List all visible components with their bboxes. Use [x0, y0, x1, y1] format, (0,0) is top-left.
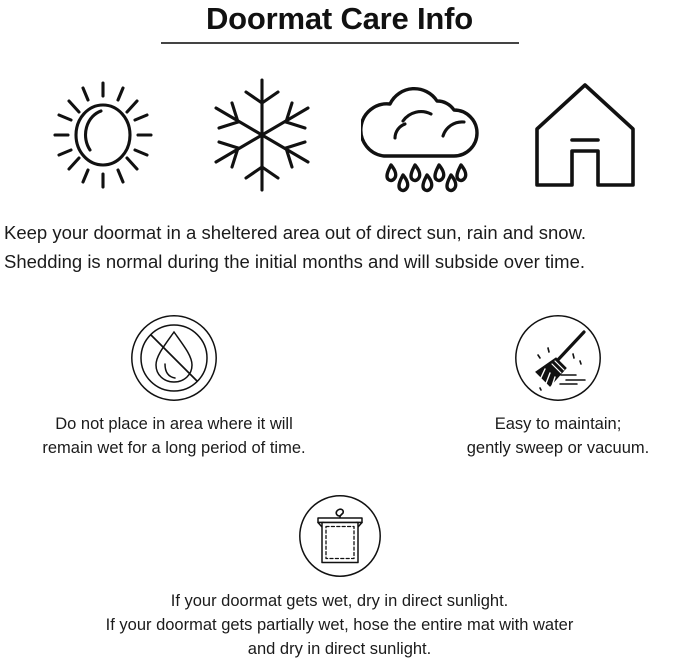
- care-items-row: Do not place in area where it will remai…: [0, 310, 679, 460]
- rain-cloud-icon: [352, 72, 492, 197]
- house-icon: [515, 72, 655, 197]
- bottom-caption-line-1: If your doormat gets wet, dry in direct …: [0, 589, 679, 613]
- intro-paragraph: Keep your doormat in a sheltered area ou…: [4, 218, 679, 276]
- care-item-sweep: Easy to maintain; gently sweep or vacuum…: [408, 310, 679, 460]
- bottom-caption-line-2: If your doormat gets partially wet, hose…: [0, 613, 679, 637]
- sun-icon: [33, 72, 173, 197]
- snowflake-icon: [192, 72, 332, 197]
- weather-icon-row: [0, 72, 679, 197]
- header: Doormat Care Info: [0, 0, 679, 44]
- care-caption-line-1: Do not place in area where it will: [24, 412, 324, 436]
- hang-to-dry-icon: [0, 490, 679, 582]
- title-underline-rule: [161, 42, 519, 44]
- care-item-no-water: Do not place in area where it will remai…: [24, 310, 324, 460]
- care-caption-line-1: Easy to maintain;: [408, 412, 679, 436]
- bottom-caption-line-3: and dry in direct sunlight.: [0, 637, 679, 661]
- care-item-hang-to-dry: If your doormat gets wet, dry in direct …: [0, 490, 679, 661]
- intro-line-1: Keep your doormat in a sheltered area ou…: [4, 218, 679, 247]
- care-caption-no-water: Do not place in area where it will remai…: [24, 412, 324, 460]
- care-caption-line-2: remain wet for a long period of time.: [24, 436, 324, 460]
- no-water-icon: [24, 310, 324, 406]
- doormat-care-info-page: Doormat Care Info: [0, 0, 679, 655]
- care-caption-hang-to-dry: If your doormat gets wet, dry in direct …: [0, 589, 679, 661]
- broom-sweep-icon: [408, 310, 679, 406]
- care-caption-sweep: Easy to maintain; gently sweep or vacuum…: [408, 412, 679, 460]
- care-caption-line-2: gently sweep or vacuum.: [408, 436, 679, 460]
- intro-line-2: Shedding is normal during the initial mo…: [4, 247, 679, 276]
- page-title: Doormat Care Info: [0, 0, 679, 36]
